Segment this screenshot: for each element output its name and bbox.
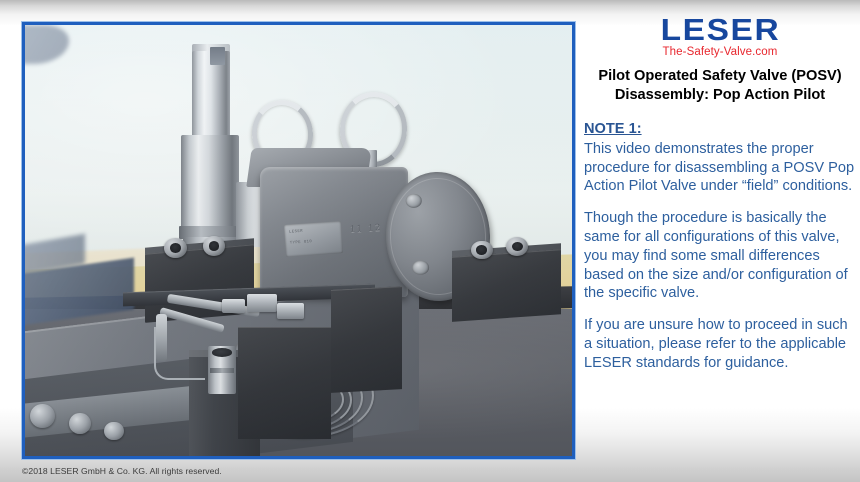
- tube-fitting: [222, 299, 245, 314]
- pilot-tube-bend: [154, 327, 205, 381]
- logo-wordmark: LESER: [660, 14, 780, 45]
- page-title-line-2: Disassembly: Pop Action Pilot: [584, 86, 856, 105]
- valve-photograph: LESER TYPE 810 11 12: [25, 25, 572, 456]
- copyright-footer: ©2018 LESER GmbH & Co. KG. All rights re…: [22, 466, 222, 476]
- note-paragraph: This video demonstrates the proper proce…: [584, 140, 856, 196]
- pilot-valve-body: [181, 135, 239, 230]
- photo-roller: [69, 413, 91, 435]
- note-paragraph: Though the procedure is basically the sa…: [584, 209, 856, 303]
- tube-fitting: [247, 294, 277, 311]
- valve-nameplate: LESER TYPE 810: [284, 221, 344, 257]
- flange-bolt: [412, 260, 429, 275]
- valve-sleeve-part: [208, 346, 235, 393]
- clamp-block-rear: [331, 286, 402, 393]
- leser-logo: LESER The-Safety-Valve.com: [584, 10, 856, 58]
- valve-body-stamp: 11 12: [350, 222, 383, 235]
- page-title-line-1: Pilot Operated Safety Valve (POSV): [584, 67, 856, 86]
- pilot-valve-port: [210, 47, 225, 64]
- valve-nameplate-line1: LESER: [289, 230, 303, 235]
- content-column: LESER The-Safety-Valve.com Pilot Operate…: [584, 10, 856, 470]
- clamp-nut: [203, 236, 225, 256]
- note-heading: NOTE 1:: [584, 120, 856, 139]
- logo-tagline: The-Safety-Valve.com: [584, 46, 856, 58]
- note-paragraph: If you are unsure how to proceed in such…: [584, 316, 856, 372]
- clamp-nut: [164, 238, 186, 258]
- video-photo-frame[interactable]: LESER TYPE 810 11 12: [22, 22, 575, 459]
- tube-fitting: [277, 303, 304, 319]
- valve-nameplate-line2: TYPE 810: [290, 241, 313, 247]
- note-block: NOTE 1: This video demonstrates the prop…: [584, 120, 856, 373]
- page-title: Pilot Operated Safety Valve (POSV) Disas…: [584, 67, 856, 105]
- slide-canvas: LESER TYPE 810 11 12: [0, 0, 860, 482]
- clamp-block-center: [238, 327, 331, 439]
- clamp-nut: [471, 241, 493, 260]
- clamp-block-right: [452, 250, 561, 322]
